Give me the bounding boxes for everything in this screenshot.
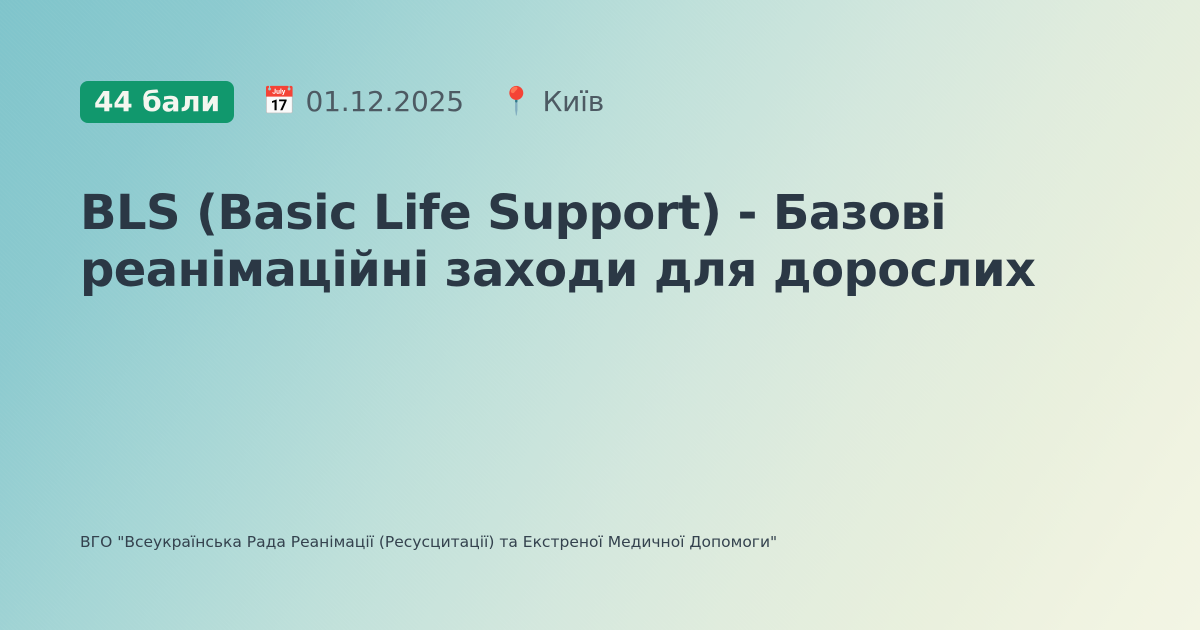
event-location-value: Київ: [542, 88, 604, 116]
event-title: BLS (Basic Life Support) - Базові реанім…: [80, 123, 1070, 299]
event-share-card: 44 бали 📅 01.12.2025 📍 Київ BLS (Basic L…: [0, 0, 1200, 630]
event-date-value: 01.12.2025: [306, 88, 464, 116]
map-pin-icon: 📍: [500, 88, 534, 115]
event-location: 📍 Київ: [500, 88, 604, 116]
calendar-icon: 📅: [263, 88, 297, 115]
event-meta-row: 44 бали 📅 01.12.2025 📍 Київ: [80, 81, 1120, 123]
points-badge: 44 бали: [80, 81, 234, 123]
organizer-name: ВГО "Всеукраїнська Рада Реанімації (Ресу…: [80, 530, 950, 554]
event-date: 📅 01.12.2025: [263, 88, 464, 116]
